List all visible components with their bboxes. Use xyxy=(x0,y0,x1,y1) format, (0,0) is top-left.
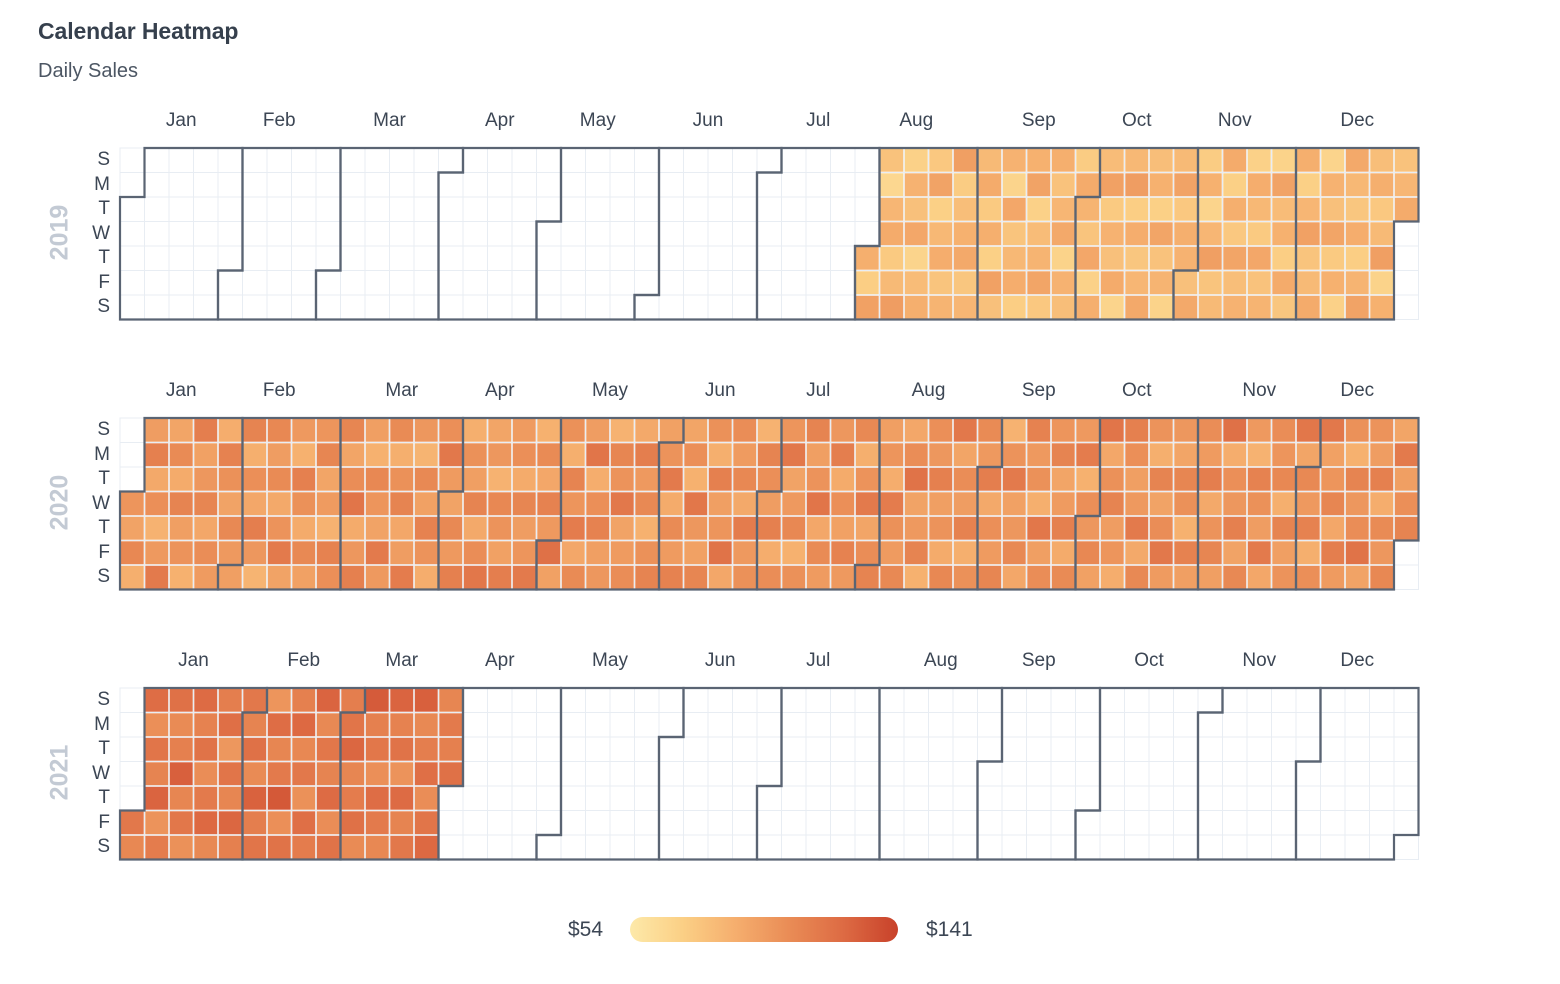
heatmap-cell[interactable] xyxy=(145,713,168,736)
heatmap-cell[interactable] xyxy=(1174,541,1197,564)
heatmap-cell[interactable] xyxy=(219,836,242,859)
heatmap-cell[interactable] xyxy=(1272,149,1295,172)
heatmap-cell[interactable] xyxy=(268,468,291,491)
heatmap-cell[interactable] xyxy=(292,713,315,736)
heatmap-cell[interactable] xyxy=(194,517,217,540)
heatmap-cell[interactable] xyxy=(415,468,438,491)
heatmap-cell[interactable] xyxy=(880,271,903,294)
heatmap-cell[interactable] xyxy=(1248,271,1271,294)
heatmap-cell[interactable] xyxy=(1297,517,1320,540)
heatmap-cell[interactable] xyxy=(1346,149,1369,172)
heatmap-cell[interactable] xyxy=(1370,222,1393,245)
heatmap-cell[interactable] xyxy=(1174,222,1197,245)
heatmap-cell[interactable] xyxy=(856,517,879,540)
heatmap-cell[interactable] xyxy=(219,468,242,491)
heatmap-cell[interactable] xyxy=(1125,566,1148,589)
heatmap-cell[interactable] xyxy=(954,149,977,172)
heatmap-cell[interactable] xyxy=(635,541,658,564)
heatmap-cell[interactable] xyxy=(317,443,340,466)
heatmap-cell[interactable] xyxy=(660,517,683,540)
heatmap-cell[interactable] xyxy=(292,443,315,466)
heatmap-cell[interactable] xyxy=(978,541,1001,564)
heatmap-cell[interactable] xyxy=(1174,468,1197,491)
heatmap-cell[interactable] xyxy=(243,787,266,810)
heatmap-cell[interactable] xyxy=(1297,419,1320,442)
heatmap-cell[interactable] xyxy=(1003,419,1026,442)
heatmap-cell[interactable] xyxy=(1003,517,1026,540)
heatmap-cell[interactable] xyxy=(121,517,144,540)
heatmap-cell[interactable] xyxy=(1076,468,1099,491)
heatmap-cell[interactable] xyxy=(1150,247,1173,270)
heatmap-cell[interactable] xyxy=(905,492,928,515)
heatmap-cell[interactable] xyxy=(905,173,928,196)
heatmap-cell[interactable] xyxy=(905,517,928,540)
heatmap-cell[interactable] xyxy=(1223,541,1246,564)
heatmap-cell[interactable] xyxy=(415,419,438,442)
heatmap-cell[interactable] xyxy=(145,787,168,810)
heatmap-cell[interactable] xyxy=(929,517,952,540)
heatmap-cell[interactable] xyxy=(978,566,1001,589)
heatmap-cell[interactable] xyxy=(390,541,413,564)
heatmap-cell[interactable] xyxy=(268,517,291,540)
heatmap-cell[interactable] xyxy=(880,222,903,245)
heatmap-cell[interactable] xyxy=(268,689,291,712)
heatmap-cell[interactable] xyxy=(586,419,609,442)
heatmap-cell[interactable] xyxy=(733,566,756,589)
heatmap-cell[interactable] xyxy=(341,419,364,442)
heatmap-cell[interactable] xyxy=(905,222,928,245)
heatmap-cell[interactable] xyxy=(1321,296,1344,319)
heatmap-cell[interactable] xyxy=(856,541,879,564)
heatmap-cell[interactable] xyxy=(1199,492,1222,515)
heatmap-cell[interactable] xyxy=(1297,566,1320,589)
heatmap-cell[interactable] xyxy=(856,492,879,515)
heatmap-cell[interactable] xyxy=(1027,173,1050,196)
heatmap-cell[interactable] xyxy=(390,762,413,785)
heatmap-cell[interactable] xyxy=(1346,222,1369,245)
heatmap-cell[interactable] xyxy=(586,517,609,540)
heatmap-cell[interactable] xyxy=(709,419,732,442)
heatmap-cell[interactable] xyxy=(243,689,266,712)
heatmap-cell[interactable] xyxy=(586,566,609,589)
heatmap-cell[interactable] xyxy=(978,517,1001,540)
heatmap-cell[interactable] xyxy=(1150,198,1173,221)
heatmap-cell[interactable] xyxy=(905,149,928,172)
heatmap-cell[interactable] xyxy=(341,836,364,859)
heatmap-cell[interactable] xyxy=(317,492,340,515)
heatmap-cell[interactable] xyxy=(1346,468,1369,491)
heatmap-cell[interactable] xyxy=(929,419,952,442)
heatmap-cell[interactable] xyxy=(1346,247,1369,270)
heatmap-cell[interactable] xyxy=(1395,198,1418,221)
heatmap-cell[interactable] xyxy=(415,492,438,515)
heatmap-cell[interactable] xyxy=(1223,198,1246,221)
heatmap-cell[interactable] xyxy=(1027,468,1050,491)
heatmap-cell[interactable] xyxy=(1370,247,1393,270)
heatmap-cell[interactable] xyxy=(1370,296,1393,319)
heatmap-cell[interactable] xyxy=(1101,149,1124,172)
heatmap-cell[interactable] xyxy=(1101,222,1124,245)
heatmap-cell[interactable] xyxy=(317,713,340,736)
heatmap-cell[interactable] xyxy=(292,468,315,491)
heatmap-cell[interactable] xyxy=(317,468,340,491)
heatmap-cell[interactable] xyxy=(439,689,462,712)
heatmap-cell[interactable] xyxy=(121,811,144,834)
heatmap-cell[interactable] xyxy=(1150,419,1173,442)
heatmap-cell[interactable] xyxy=(709,566,732,589)
heatmap-cell[interactable] xyxy=(219,517,242,540)
heatmap-cell[interactable] xyxy=(929,222,952,245)
heatmap-cell[interactable] xyxy=(1321,247,1344,270)
heatmap-cell[interactable] xyxy=(1321,271,1344,294)
heatmap-cell[interactable] xyxy=(1076,492,1099,515)
heatmap-cell[interactable] xyxy=(1052,443,1075,466)
heatmap-cell[interactable] xyxy=(194,787,217,810)
heatmap-cell[interactable] xyxy=(219,787,242,810)
heatmap-cell[interactable] xyxy=(562,419,585,442)
heatmap-cell[interactable] xyxy=(1052,173,1075,196)
heatmap-cell[interactable] xyxy=(243,492,266,515)
heatmap-cell[interactable] xyxy=(219,738,242,761)
heatmap-cell[interactable] xyxy=(415,738,438,761)
heatmap-cell[interactable] xyxy=(954,443,977,466)
heatmap-cell[interactable] xyxy=(513,566,536,589)
heatmap-cell[interactable] xyxy=(513,541,536,564)
heatmap-cell[interactable] xyxy=(954,271,977,294)
heatmap-cell[interactable] xyxy=(243,762,266,785)
heatmap-cell[interactable] xyxy=(537,443,560,466)
heatmap-cell[interactable] xyxy=(954,419,977,442)
heatmap-cell[interactable] xyxy=(219,713,242,736)
heatmap-cell[interactable] xyxy=(1272,198,1295,221)
heatmap-cell[interactable] xyxy=(1395,517,1418,540)
heatmap-cell[interactable] xyxy=(1027,198,1050,221)
heatmap-cell[interactable] xyxy=(1150,443,1173,466)
heatmap-cell[interactable] xyxy=(1272,443,1295,466)
heatmap-cell[interactable] xyxy=(709,492,732,515)
heatmap-cell[interactable] xyxy=(1150,541,1173,564)
heatmap-cell[interactable] xyxy=(562,443,585,466)
heatmap-cell[interactable] xyxy=(954,173,977,196)
heatmap-cell[interactable] xyxy=(170,566,193,589)
heatmap-cell[interactable] xyxy=(243,443,266,466)
heatmap-cell[interactable] xyxy=(978,443,1001,466)
heatmap-cell[interactable] xyxy=(1027,149,1050,172)
heatmap-cell[interactable] xyxy=(954,566,977,589)
heatmap-cell[interactable] xyxy=(1223,271,1246,294)
heatmap-cell[interactable] xyxy=(243,836,266,859)
heatmap-cell[interactable] xyxy=(782,468,805,491)
heatmap-cell[interactable] xyxy=(660,492,683,515)
heatmap-cell[interactable] xyxy=(317,836,340,859)
heatmap-cell[interactable] xyxy=(366,787,389,810)
heatmap-cell[interactable] xyxy=(488,443,511,466)
heatmap-cell[interactable] xyxy=(1297,443,1320,466)
heatmap-cell[interactable] xyxy=(1248,517,1271,540)
heatmap-cell[interactable] xyxy=(268,811,291,834)
heatmap-cell[interactable] xyxy=(1076,517,1099,540)
heatmap-cell[interactable] xyxy=(292,762,315,785)
heatmap-cell[interactable] xyxy=(586,443,609,466)
heatmap-cell[interactable] xyxy=(366,713,389,736)
heatmap-cell[interactable] xyxy=(1248,222,1271,245)
heatmap-cell[interactable] xyxy=(562,468,585,491)
heatmap-cell[interactable] xyxy=(856,468,879,491)
heatmap-cell[interactable] xyxy=(219,541,242,564)
heatmap-cell[interactable] xyxy=(1346,443,1369,466)
heatmap-cell[interactable] xyxy=(366,443,389,466)
heatmap-cell[interactable] xyxy=(145,541,168,564)
heatmap-cell[interactable] xyxy=(1101,173,1124,196)
heatmap-cell[interactable] xyxy=(1370,492,1393,515)
heatmap-cell[interactable] xyxy=(439,762,462,785)
heatmap-cell[interactable] xyxy=(1223,222,1246,245)
heatmap-cell[interactable] xyxy=(880,247,903,270)
heatmap-cell[interactable] xyxy=(611,541,634,564)
heatmap-cell[interactable] xyxy=(194,419,217,442)
heatmap-cell[interactable] xyxy=(856,566,879,589)
heatmap-cell[interactable] xyxy=(1125,541,1148,564)
heatmap-cell[interactable] xyxy=(439,738,462,761)
heatmap-cell[interactable] xyxy=(390,566,413,589)
heatmap-cell[interactable] xyxy=(1346,198,1369,221)
heatmap-cell[interactable] xyxy=(317,566,340,589)
heatmap-cell[interactable] xyxy=(1346,492,1369,515)
heatmap-cell[interactable] xyxy=(1199,566,1222,589)
heatmap-cell[interactable] xyxy=(415,787,438,810)
heatmap-cell[interactable] xyxy=(488,541,511,564)
heatmap-cell[interactable] xyxy=(415,566,438,589)
heatmap-cell[interactable] xyxy=(929,443,952,466)
heatmap-cell[interactable] xyxy=(317,738,340,761)
heatmap-cell[interactable] xyxy=(537,419,560,442)
heatmap-cell[interactable] xyxy=(513,419,536,442)
heatmap-cell[interactable] xyxy=(292,689,315,712)
heatmap-cell[interactable] xyxy=(145,566,168,589)
heatmap-cell[interactable] xyxy=(537,517,560,540)
heatmap-cell[interactable] xyxy=(1174,492,1197,515)
heatmap-cell[interactable] xyxy=(1321,198,1344,221)
heatmap-cell[interactable] xyxy=(170,492,193,515)
heatmap-cell[interactable] xyxy=(1052,541,1075,564)
heatmap-cell[interactable] xyxy=(488,566,511,589)
heatmap-cell[interactable] xyxy=(464,419,487,442)
heatmap-cell[interactable] xyxy=(684,566,707,589)
heatmap-cell[interactable] xyxy=(1125,468,1148,491)
heatmap-cell[interactable] xyxy=(292,419,315,442)
heatmap-cell[interactable] xyxy=(145,836,168,859)
heatmap-cell[interactable] xyxy=(390,787,413,810)
heatmap-cell[interactable] xyxy=(1272,566,1295,589)
heatmap-cell[interactable] xyxy=(1321,517,1344,540)
heatmap-cell[interactable] xyxy=(243,566,266,589)
heatmap-cell[interactable] xyxy=(1248,419,1271,442)
heatmap-cell[interactable] xyxy=(268,541,291,564)
heatmap-cell[interactable] xyxy=(415,713,438,736)
heatmap-cell[interactable] xyxy=(439,713,462,736)
heatmap-cell[interactable] xyxy=(978,149,1001,172)
heatmap-cell[interactable] xyxy=(121,836,144,859)
heatmap-cell[interactable] xyxy=(1150,222,1173,245)
heatmap-cell[interactable] xyxy=(1174,296,1197,319)
heatmap-cell[interactable] xyxy=(194,811,217,834)
heatmap-cell[interactable] xyxy=(1003,173,1026,196)
heatmap-cell[interactable] xyxy=(1248,541,1271,564)
heatmap-cell[interactable] xyxy=(929,492,952,515)
heatmap-cell[interactable] xyxy=(439,517,462,540)
heatmap-cell[interactable] xyxy=(1395,468,1418,491)
heatmap-cell[interactable] xyxy=(611,468,634,491)
heatmap-cell[interactable] xyxy=(1003,468,1026,491)
heatmap-cell[interactable] xyxy=(170,468,193,491)
heatmap-cell[interactable] xyxy=(243,541,266,564)
heatmap-cell[interactable] xyxy=(1003,566,1026,589)
heatmap-cell[interactable] xyxy=(1248,247,1271,270)
heatmap-cell[interactable] xyxy=(1223,419,1246,442)
heatmap-cell[interactable] xyxy=(1272,247,1295,270)
heatmap-cell[interactable] xyxy=(1052,198,1075,221)
heatmap-cell[interactable] xyxy=(1003,271,1026,294)
heatmap-cell[interactable] xyxy=(831,492,854,515)
heatmap-cell[interactable] xyxy=(268,419,291,442)
heatmap-cell[interactable] xyxy=(292,836,315,859)
heatmap-cell[interactable] xyxy=(1272,517,1295,540)
heatmap-cell[interactable] xyxy=(880,517,903,540)
heatmap-cell[interactable] xyxy=(954,222,977,245)
heatmap-cell[interactable] xyxy=(758,566,781,589)
heatmap-cell[interactable] xyxy=(660,541,683,564)
heatmap-cell[interactable] xyxy=(978,198,1001,221)
heatmap-cell[interactable] xyxy=(1321,149,1344,172)
heatmap-cell[interactable] xyxy=(268,836,291,859)
heatmap-cell[interactable] xyxy=(1321,222,1344,245)
heatmap-cell[interactable] xyxy=(1027,541,1050,564)
heatmap-cell[interactable] xyxy=(513,468,536,491)
heatmap-cell[interactable] xyxy=(415,762,438,785)
heatmap-cell[interactable] xyxy=(1174,149,1197,172)
heatmap-cell[interactable] xyxy=(1076,296,1099,319)
heatmap-cell[interactable] xyxy=(880,296,903,319)
heatmap-cell[interactable] xyxy=(268,762,291,785)
heatmap-cell[interactable] xyxy=(464,492,487,515)
heatmap-cell[interactable] xyxy=(1125,296,1148,319)
heatmap-cell[interactable] xyxy=(1272,541,1295,564)
heatmap-cell[interactable] xyxy=(1199,247,1222,270)
heatmap-cell[interactable] xyxy=(929,296,952,319)
heatmap-cell[interactable] xyxy=(145,811,168,834)
heatmap-cell[interactable] xyxy=(856,271,879,294)
heatmap-cell[interactable] xyxy=(1125,149,1148,172)
heatmap-cell[interactable] xyxy=(1027,247,1050,270)
heatmap-cell[interactable] xyxy=(366,468,389,491)
heatmap-cell[interactable] xyxy=(1395,419,1418,442)
heatmap-cell[interactable] xyxy=(709,468,732,491)
heatmap-cell[interactable] xyxy=(268,492,291,515)
heatmap-cell[interactable] xyxy=(537,468,560,491)
heatmap-cell[interactable] xyxy=(366,689,389,712)
heatmap-cell[interactable] xyxy=(880,149,903,172)
heatmap-cell[interactable] xyxy=(1150,149,1173,172)
heatmap-cell[interactable] xyxy=(1272,492,1295,515)
heatmap-cell[interactable] xyxy=(170,541,193,564)
heatmap-cell[interactable] xyxy=(1027,517,1050,540)
heatmap-cell[interactable] xyxy=(1272,419,1295,442)
heatmap-cell[interactable] xyxy=(1321,468,1344,491)
heatmap-cell[interactable] xyxy=(1248,566,1271,589)
heatmap-cell[interactable] xyxy=(978,419,1001,442)
heatmap-cell[interactable] xyxy=(1199,517,1222,540)
heatmap-cell[interactable] xyxy=(880,492,903,515)
heatmap-cell[interactable] xyxy=(1321,443,1344,466)
heatmap-cell[interactable] xyxy=(1297,247,1320,270)
heatmap-cell[interactable] xyxy=(880,541,903,564)
heatmap-cell[interactable] xyxy=(219,762,242,785)
heatmap-cell[interactable] xyxy=(145,517,168,540)
heatmap-cell[interactable] xyxy=(905,247,928,270)
heatmap-cell[interactable] xyxy=(807,541,830,564)
heatmap-cell[interactable] xyxy=(243,419,266,442)
heatmap-cell[interactable] xyxy=(1003,149,1026,172)
heatmap-cell[interactable] xyxy=(464,541,487,564)
heatmap-cell[interactable] xyxy=(758,468,781,491)
heatmap-cell[interactable] xyxy=(758,541,781,564)
heatmap-cell[interactable] xyxy=(611,492,634,515)
heatmap-cell[interactable] xyxy=(537,566,560,589)
heatmap-cell[interactable] xyxy=(194,492,217,515)
heatmap-cell[interactable] xyxy=(1223,468,1246,491)
heatmap-cell[interactable] xyxy=(929,173,952,196)
heatmap-cell[interactable] xyxy=(1101,247,1124,270)
heatmap-cell[interactable] xyxy=(733,419,756,442)
heatmap-cell[interactable] xyxy=(954,247,977,270)
heatmap-cell[interactable] xyxy=(1052,296,1075,319)
heatmap-cell[interactable] xyxy=(292,811,315,834)
heatmap-cell[interactable] xyxy=(170,738,193,761)
heatmap-cell[interactable] xyxy=(880,566,903,589)
heatmap-cell[interactable] xyxy=(194,762,217,785)
heatmap-cell[interactable] xyxy=(317,419,340,442)
heatmap-cell[interactable] xyxy=(268,738,291,761)
heatmap-cell[interactable] xyxy=(1052,468,1075,491)
heatmap-cell[interactable] xyxy=(929,198,952,221)
heatmap-cell[interactable] xyxy=(415,541,438,564)
heatmap-cell[interactable] xyxy=(366,419,389,442)
heatmap-cell[interactable] xyxy=(268,443,291,466)
heatmap-cell[interactable] xyxy=(1174,517,1197,540)
heatmap-cell[interactable] xyxy=(170,787,193,810)
heatmap-cell[interactable] xyxy=(1003,541,1026,564)
heatmap-cell[interactable] xyxy=(929,271,952,294)
heatmap-cell[interactable] xyxy=(1076,271,1099,294)
heatmap-cell[interactable] xyxy=(1101,296,1124,319)
heatmap-cell[interactable] xyxy=(635,517,658,540)
heatmap-cell[interactable] xyxy=(1003,296,1026,319)
heatmap-cell[interactable] xyxy=(488,492,511,515)
heatmap-cell[interactable] xyxy=(1370,443,1393,466)
heatmap-cell[interactable] xyxy=(1297,271,1320,294)
heatmap-cell[interactable] xyxy=(292,517,315,540)
heatmap-cell[interactable] xyxy=(1052,566,1075,589)
heatmap-cell[interactable] xyxy=(611,443,634,466)
heatmap-cell[interactable] xyxy=(1248,149,1271,172)
heatmap-cell[interactable] xyxy=(758,517,781,540)
heatmap-cell[interactable] xyxy=(243,468,266,491)
heatmap-cell[interactable] xyxy=(1101,443,1124,466)
heatmap-cell[interactable] xyxy=(1199,541,1222,564)
heatmap-cell[interactable] xyxy=(733,443,756,466)
heatmap-cell[interactable] xyxy=(145,492,168,515)
heatmap-cell[interactable] xyxy=(439,468,462,491)
